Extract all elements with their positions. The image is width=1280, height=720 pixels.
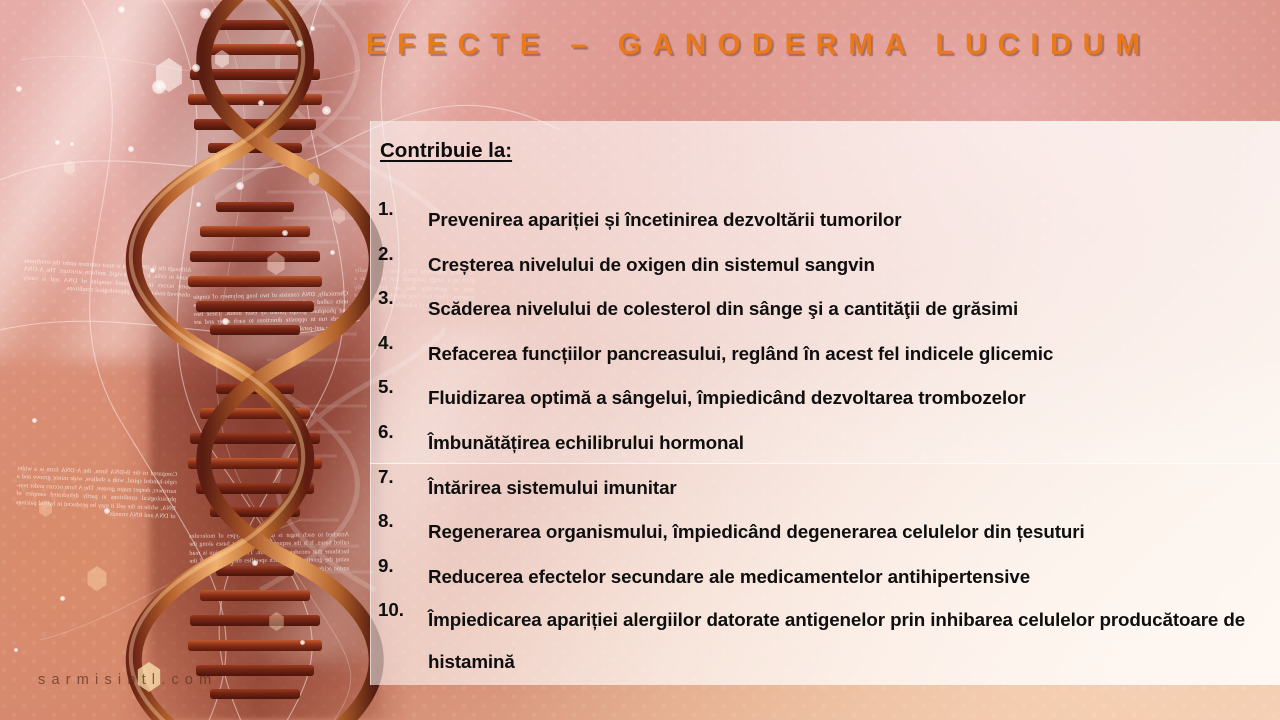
list-item-text: Prevenirea apariției și încetinirea dezv…: [428, 198, 1280, 243]
list-item-number: 6.: [378, 421, 420, 443]
list-item-number: 5.: [378, 376, 420, 398]
benefits-list: 1. Prevenirea apariției și încetinirea d…: [370, 198, 1280, 683]
site-watermark: sarmisintl.com: [38, 672, 217, 688]
list-item: 1. Prevenirea apariției și încetinirea d…: [370, 198, 1280, 243]
content-body: Contribuie la: 1. Prevenirea apariției ș…: [370, 121, 1280, 685]
list-item-text: Întărirea sistemului imunitar: [428, 466, 1280, 511]
list-item-number: 3.: [378, 287, 420, 309]
list-item-number: 7.: [378, 466, 420, 488]
list-item-text: Creșterea nivelului de oxigen din sistem…: [428, 243, 1280, 288]
list-item: 5. Fluidizarea optimă a sângelui, împied…: [370, 376, 1280, 421]
list-item-number: 8.: [378, 510, 420, 532]
list-item-text: Fluidizarea optimă a sângelui, împiedicâ…: [428, 376, 1280, 421]
list-item-text: Scăderea nivelului de colesterol din sân…: [428, 287, 1280, 332]
list-item: 8. Regenerarea organismului, împiedicând…: [370, 510, 1280, 555]
list-item: 6. Îmbunătățirea echilibrului hormonal: [370, 421, 1280, 466]
list-item: 7. Întărirea sistemului imunitar: [370, 466, 1280, 511]
list-item-text: Regenerarea organismului, împiedicând de…: [428, 510, 1280, 555]
dna-double-helix: [120, 0, 410, 720]
list-item-number: 9.: [378, 555, 420, 577]
content-heading: Contribuie la:: [380, 139, 512, 163]
list-item-text: Reducerea efectelor secundare ale medica…: [428, 555, 1280, 600]
list-item: 4. Refacerea funcțiilor pancreasului, re…: [370, 332, 1280, 377]
list-item-text: Îmbunătățirea echilibrului hormonal: [428, 421, 1280, 466]
list-item: 3. Scăderea nivelului de colesterol din …: [370, 287, 1280, 332]
list-item-text: Împiedicarea apariției alergiilor datora…: [428, 599, 1280, 683]
list-item: 9. Reducerea efectelor secundare ale med…: [370, 555, 1280, 600]
slide-title: EFECTE – GANODERMA LUCIDUM: [366, 22, 1280, 68]
list-item-number: 10.: [378, 599, 420, 621]
content-panel: Contribuie la: 1. Prevenirea apariției ș…: [370, 121, 1280, 685]
list-item: 2. Creșterea nivelului de oxigen din sis…: [370, 243, 1280, 288]
presentation-slide: Although the B-DNA form is most common u…: [0, 0, 1280, 720]
list-item: 10. Împiedicarea apariției alergiilor da…: [370, 599, 1280, 683]
list-item-number: 4.: [378, 332, 420, 354]
list-item-number: 2.: [378, 243, 420, 265]
list-item-number: 1.: [378, 198, 420, 220]
list-item-text: Refacerea funcțiilor pancreasului, reglâ…: [428, 332, 1280, 377]
